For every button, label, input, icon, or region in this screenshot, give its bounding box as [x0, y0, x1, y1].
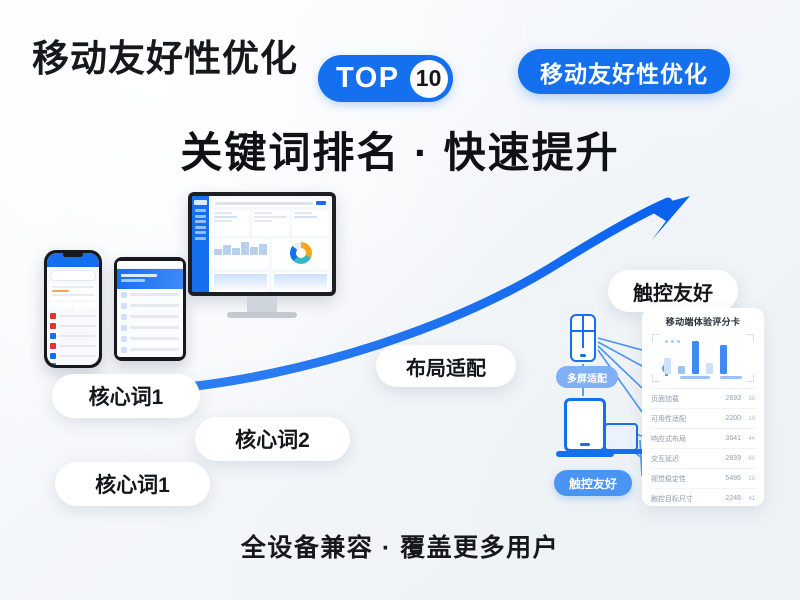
- device-network-diagram: 多屏适配 触控友好 移动端体验评分卡: [552, 308, 764, 513]
- diagram-laptop-icon: [604, 423, 638, 451]
- row-name: 交互延迟: [651, 454, 717, 464]
- row-value: 2248: [717, 495, 741, 502]
- touch-friendly-mini-pill: 触控友好: [554, 470, 632, 496]
- touch-friendly-pill[interactable]: 触控友好: [608, 270, 738, 312]
- multi-screen-mini-pill: 多屏适配: [556, 366, 618, 388]
- diagram-tablet-icon: [564, 398, 606, 452]
- footer-tagline: 全设备兼容 · 覆盖更多用户: [0, 528, 800, 564]
- row-value: 2693: [717, 395, 741, 402]
- desktop-monitor-mockup: [188, 192, 336, 318]
- top-rank-badge: TOP 10: [318, 55, 453, 102]
- poster-canvas: 移动友好性优化 TOP 10 移动友好性优化 关键词排名 · 快速提升: [0, 0, 800, 600]
- mobile-scorecard: 移动端体验评分卡 页面加载 2693 38: [642, 308, 764, 506]
- diagram-phone-icon: [570, 314, 596, 362]
- keyword-pill-3[interactable]: 核心词1: [55, 462, 210, 506]
- row-name: 页面加载: [651, 394, 717, 404]
- page-kicker: 移动友好性优化: [32, 28, 298, 82]
- table-row: 触控目标尺寸 2248 41: [650, 488, 756, 508]
- page-title: 关键词排名 · 快速提升: [0, 119, 800, 180]
- phone-notch: [63, 252, 83, 257]
- row-delta: 60: [741, 456, 755, 462]
- layout-adaptation-pill[interactable]: 布局适配: [376, 345, 516, 387]
- row-delta: 44: [741, 436, 755, 442]
- row-name: 触控目标尺寸: [651, 494, 717, 504]
- scorecard-bars: [664, 338, 744, 374]
- table-row: 响应式布局 3641 44: [650, 428, 756, 448]
- row-delta: 19: [741, 416, 755, 422]
- header-tag-pill: 移动友好性优化: [518, 49, 730, 94]
- table-row: 视觉稳定性 5486 18: [650, 468, 756, 488]
- scorecard-title: 移动端体验评分卡: [650, 315, 756, 328]
- row-name: 视觉稳定性: [651, 474, 717, 484]
- row-name: 响应式布局: [651, 434, 717, 444]
- dashboard-main: [209, 196, 332, 292]
- row-value: 5486: [717, 475, 741, 482]
- diagram-laptop-base: [598, 449, 644, 454]
- row-delta: 41: [741, 496, 755, 502]
- top-badge-word: TOP: [336, 62, 400, 95]
- row-value: 3641: [717, 435, 741, 442]
- keyword-pill-1[interactable]: 核心词1: [52, 374, 200, 418]
- monitor-screen: [188, 192, 336, 296]
- row-delta: 38: [741, 396, 755, 402]
- scorecard-chart: [652, 334, 754, 382]
- row-value: 2839: [717, 455, 741, 462]
- row-name: 可用性适配: [651, 414, 717, 424]
- row-value: 2200: [717, 415, 741, 422]
- table-row: 页面加载 2693 38: [650, 388, 756, 408]
- table-row: 可用性适配 2200 19: [650, 408, 756, 428]
- row-delta: 18: [741, 476, 755, 482]
- phone-mockup: [44, 250, 102, 368]
- table-row: 交互延迟 2839 60: [650, 448, 756, 468]
- device-mockup-group: [28, 192, 338, 392]
- tablet-mockup: [114, 257, 186, 361]
- dashboard-sidebar: [192, 196, 209, 292]
- top-badge-number: 10: [410, 60, 448, 98]
- keyword-pill-2[interactable]: 核心词2: [195, 417, 350, 461]
